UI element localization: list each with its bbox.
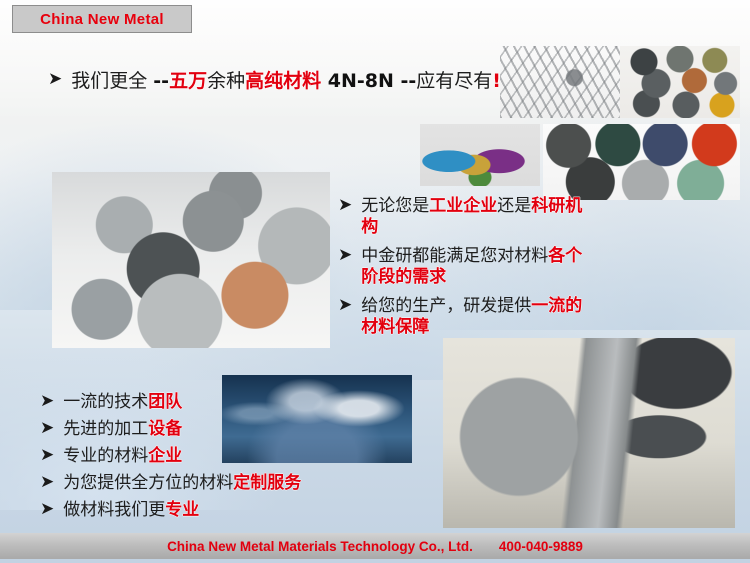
left-bullet-3: ➤ 专业的材料企业 [40, 446, 182, 466]
text-run: 中金研都能满足您对材料 [361, 246, 548, 266]
wire-spools-photo [420, 124, 540, 186]
metal-wires-foils-photo [500, 46, 620, 118]
headline-text: 我们更全 --五万余种高纯材料 4N-8N --应有尽有! [71, 70, 501, 93]
text-run: 企业 [148, 446, 182, 466]
metal-wires-foils-photo-image [500, 46, 620, 118]
text-run: -- [153, 70, 169, 92]
headline-bullet: ➤ 我们更全 --五万余种高纯材料 4N-8N --应有尽有! [48, 70, 501, 93]
text-run: 五万 [169, 70, 207, 92]
right-bullet-2-text: 中金研都能满足您对材料各个阶段的需求 [361, 246, 596, 289]
text-run: -- [400, 70, 416, 92]
bullet-arrow-icon: ➤ [40, 446, 54, 465]
text-run: 专业 [165, 500, 199, 520]
left-bullet-2: ➤ 先进的加工设备 [40, 419, 182, 439]
cnc-lathe-photo-image [443, 338, 735, 528]
page-title: China New Metal [40, 11, 164, 28]
wire-spools-photo-image [420, 124, 540, 186]
footer-company-name: China New Metal Materials Technology Co.… [167, 539, 473, 554]
right-bullet-1: ➤ 无论您是工业企业还是科研机构 [338, 196, 596, 239]
sputtering-targets-photo [52, 172, 330, 348]
text-run: 定制服务 [233, 473, 301, 493]
text-run: 设备 [148, 419, 182, 439]
sputtering-targets-photo-image [52, 172, 330, 348]
left-bullet-4: ➤ 为您提供全方位的材料定制服务 [40, 473, 301, 493]
bullet-arrow-icon: ➤ [338, 196, 352, 215]
text-run: 高纯材料 [245, 70, 321, 92]
text-run: 工业企业 [429, 196, 497, 216]
right-bullet-3: ➤ 给您的生产，研发提供一流的材料保障 [338, 296, 596, 339]
left-bullet-1-text: 一流的技术团队 [63, 392, 182, 412]
text-run: 还是 [497, 196, 531, 216]
bullet-arrow-icon: ➤ [338, 296, 352, 315]
text-run: 我们更全 [71, 70, 153, 92]
text-run: 做材料我们更 [63, 500, 165, 520]
cnc-lathe-photo [443, 338, 735, 528]
bullet-arrow-icon: ➤ [40, 419, 54, 438]
left-bullet-4-text: 为您提供全方位的材料定制服务 [63, 473, 301, 493]
slide-title-plate: China New Metal [12, 5, 192, 33]
text-run: 一流的技术 [63, 392, 148, 412]
footer-phone-number: 400-040-9889 [499, 539, 583, 554]
bullet-arrow-icon: ➤ [338, 246, 352, 265]
text-run: 余种 [207, 70, 245, 92]
text-run: 给您的生产，研发提供 [361, 296, 531, 316]
metal-granules-photo [620, 46, 740, 118]
bullet-arrow-icon: ➤ [40, 392, 54, 411]
footer-bar: China New Metal Materials Technology Co.… [0, 533, 750, 559]
laboratory-research-photo-image [222, 375, 412, 463]
text-run: ! [492, 70, 501, 92]
metal-powders-photo-image [543, 124, 740, 200]
metal-granules-photo-image [620, 46, 740, 118]
left-bullet-3-text: 专业的材料企业 [63, 446, 182, 466]
right-bullet-1-text: 无论您是工业企业还是科研机构 [361, 196, 596, 239]
metal-powders-photo [543, 124, 740, 200]
text-run: 4N-8N [321, 70, 400, 92]
right-bullet-2: ➤ 中金研都能满足您对材料各个阶段的需求 [338, 246, 596, 289]
bullet-arrow-icon: ➤ [40, 473, 54, 492]
text-run: 先进的加工 [63, 419, 148, 439]
left-bullet-5: ➤ 做材料我们更专业 [40, 500, 199, 520]
right-bullet-3-text: 给您的生产，研发提供一流的材料保障 [361, 296, 596, 339]
text-run: 无论您是 [361, 196, 429, 216]
slide-canvas: China New Metal ➤ 我们更全 --五万余种高纯材料 4N-8N … [0, 0, 750, 563]
text-run: 为您提供全方位的材料 [63, 473, 233, 493]
bullet-arrow-icon: ➤ [48, 70, 62, 89]
text-run: 专业的材料 [63, 446, 148, 466]
text-run: 团队 [148, 392, 182, 412]
bullet-arrow-icon: ➤ [40, 500, 54, 519]
left-bullet-1: ➤ 一流的技术团队 [40, 392, 182, 412]
left-bullet-2-text: 先进的加工设备 [63, 419, 182, 439]
text-run: 应有尽有 [416, 70, 492, 92]
laboratory-research-photo [222, 375, 412, 463]
left-bullet-5-text: 做材料我们更专业 [63, 500, 199, 520]
